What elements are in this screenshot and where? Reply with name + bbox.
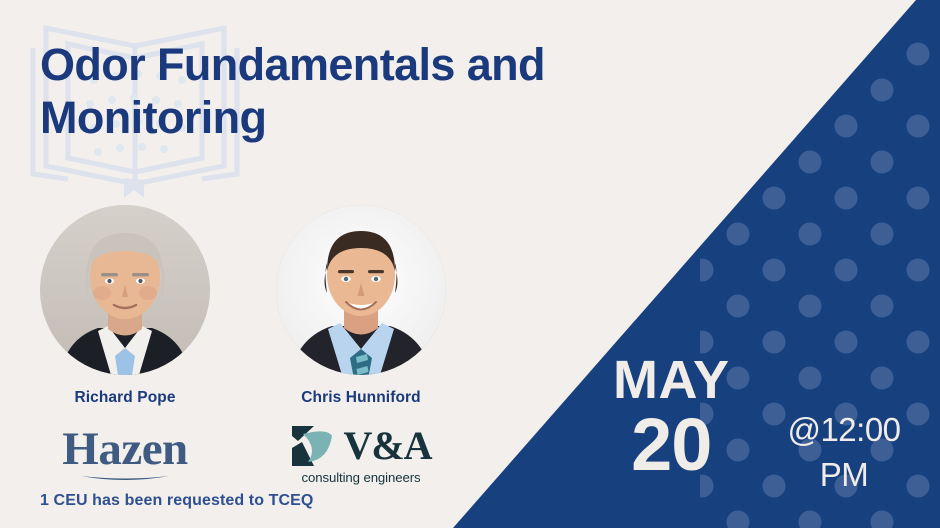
va-letters: V&A: [343, 426, 431, 466]
event-time: @12:00 PM: [768, 408, 920, 497]
event-day: 20: [613, 410, 730, 480]
speaker-chris-hunniford: Chris Hunniford V&A consulting engineers: [276, 205, 446, 485]
headline-line-1: Odor Fundamentals and: [40, 39, 545, 90]
headshot-photo-richard-pope: [40, 205, 210, 375]
va-logo: V&A consulting engineers: [290, 423, 431, 485]
speaker-richard-pope: Richard Pope Hazen: [40, 205, 210, 485]
hazen-swoosh-icon: [75, 474, 175, 483]
event-time-line-2: PM: [768, 453, 920, 498]
hazen-logo: Hazen: [62, 423, 187, 485]
headshot-photo-chris-hunniford: [276, 205, 446, 375]
event-month: MAY: [613, 355, 730, 406]
page-title: Odor Fundamentals and Monitoring: [40, 38, 660, 144]
speaker-name: Richard Pope: [74, 389, 175, 407]
speaker-name: Chris Hunniford: [301, 389, 420, 407]
headline-line-2: Monitoring: [40, 92, 266, 143]
ceu-note: 1 CEU has been requested to TCEQ: [40, 492, 313, 510]
va-logo-mark-icon: [290, 424, 336, 468]
event-time-line-1: @12:00: [768, 408, 920, 453]
webinar-promo-card: Odor Fundamentals and Monitoring: [0, 0, 940, 528]
va-tagline: consulting engineers: [302, 470, 421, 485]
event-date: MAY 20: [613, 355, 730, 481]
hazen-wordmark: Hazen: [62, 426, 187, 473]
speakers-row: Richard Pope Hazen: [40, 205, 446, 485]
